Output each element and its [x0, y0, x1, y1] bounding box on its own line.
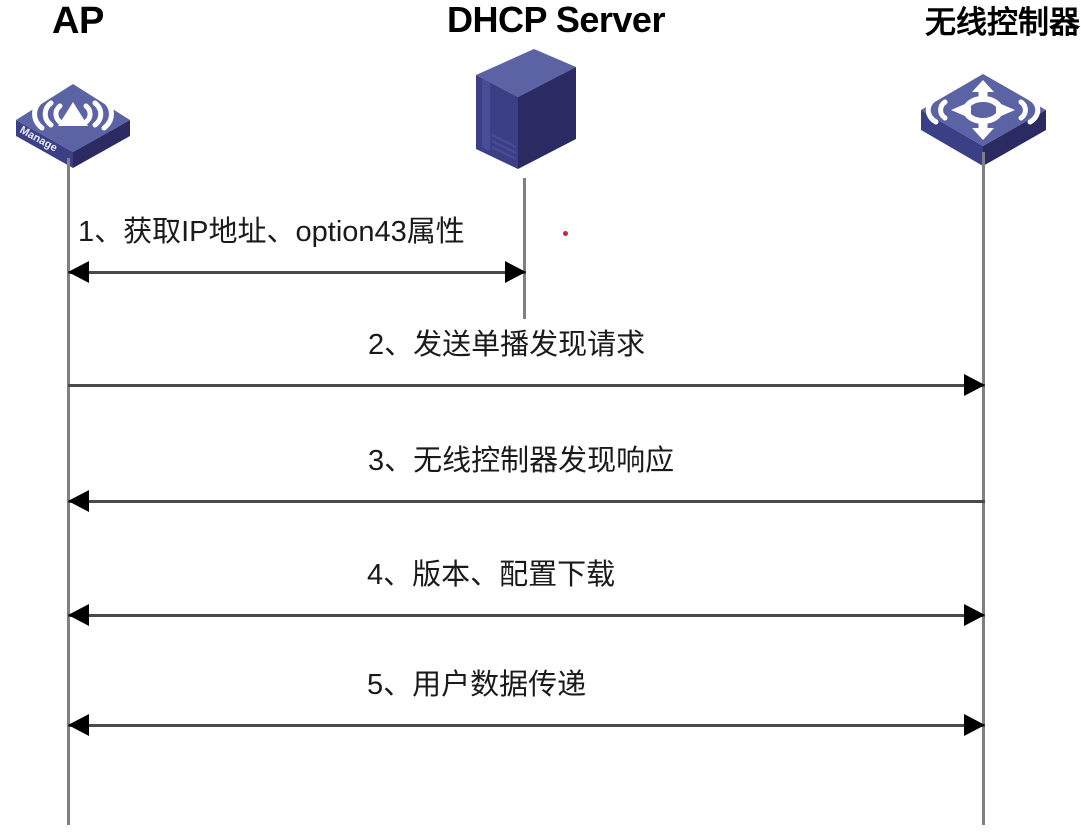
message-arrow-3 [68, 482, 985, 522]
arrowhead-right-4 [964, 604, 985, 626]
message-line-1 [68, 271, 526, 274]
message-line-5 [68, 724, 985, 727]
wireless-access-point-icon: Manage [8, 74, 138, 168]
message-arrow-2 [68, 366, 985, 406]
node-label-wireless-controller: 无线控制器 [925, 7, 1080, 38]
server-tower-icon [472, 45, 580, 181]
arrowhead-left-1 [68, 261, 89, 283]
sequence-diagram-canvas: AP DHCP Server 无线控制器 Manage [0, 0, 1081, 833]
node-label-dhcp-server: DHCP Server [447, 2, 665, 38]
message-arrow-4 [68, 596, 985, 636]
arrowhead-right-2 [964, 374, 985, 396]
message-label-5: 5、用户数据传递 [367, 671, 586, 700]
message-arrow-1 [68, 253, 526, 293]
arrowhead-right-5 [964, 714, 985, 736]
message-arrow-5 [68, 706, 985, 746]
lifeline-dhcp-server [523, 178, 526, 319]
stray-red-dot [563, 231, 568, 236]
message-label-2: 2、发送单播发现请求 [368, 331, 645, 360]
arrowhead-left-3 [68, 490, 89, 512]
arrowhead-left-4 [68, 604, 89, 626]
message-label-4: 4、版本、配置下载 [367, 561, 615, 590]
message-line-2 [68, 384, 985, 387]
message-label-1: 1、获取IP地址、option43属性 [78, 218, 465, 247]
message-line-4 [68, 614, 985, 617]
node-label-ap: AP [52, 2, 104, 40]
message-label-3: 3、无线控制器发现响应 [368, 447, 674, 476]
arrowhead-right-1 [505, 261, 526, 283]
arrowhead-left-5 [68, 714, 89, 736]
message-line-3 [68, 500, 985, 503]
